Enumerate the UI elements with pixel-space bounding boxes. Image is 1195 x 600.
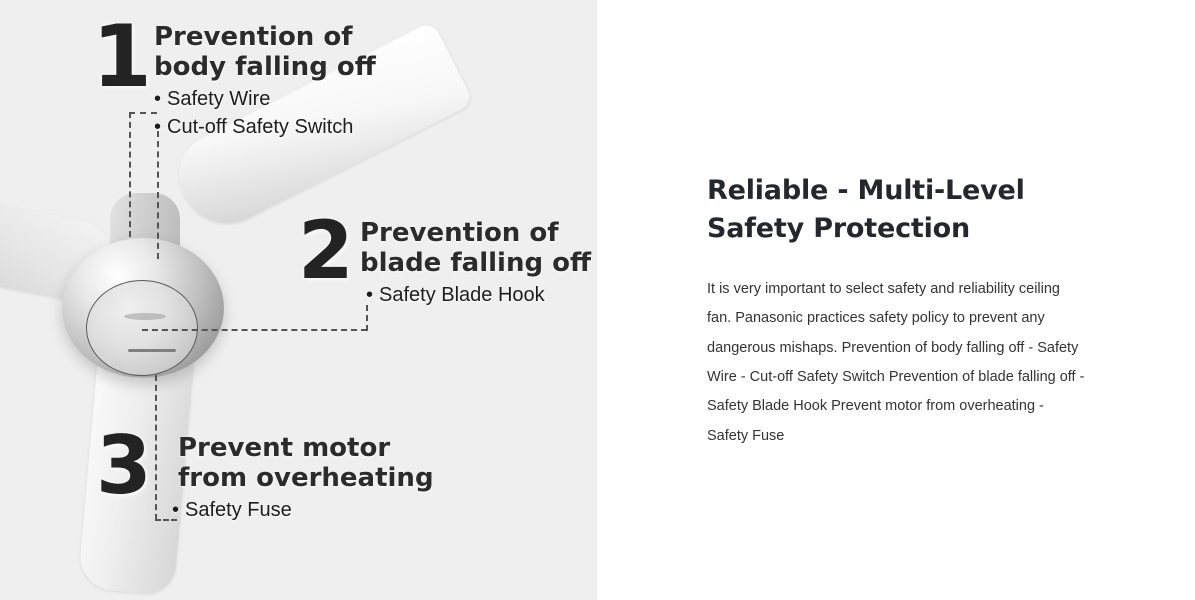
product-feature-section: 1 Prevention of body falling off Safety …	[0, 0, 1195, 600]
page-title: Reliable - Multi-Level Safety Protection	[707, 172, 1079, 249]
fan-hub-vent-slot	[128, 349, 176, 352]
feature-text-panel: Reliable - Multi-Level Safety Protection…	[597, 0, 1195, 600]
feature-description: It is very important to select safety an…	[707, 275, 1085, 452]
callout-1-bullet-item: Safety Wire	[154, 85, 376, 113]
callout-1-headline: Prevention of body falling off	[154, 22, 376, 83]
fan-hub-ridge	[124, 313, 166, 320]
callout-2: 2 Prevention of blade falling off Safety…	[298, 218, 591, 309]
callout-3-number: 3	[96, 433, 150, 499]
ceiling-fan-illustration: 1 Prevention of body falling off Safety …	[0, 0, 597, 600]
callout-2-bullet-item: Safety Blade Hook	[366, 281, 591, 309]
callout-2-bullets: Safety Blade Hook	[366, 281, 591, 309]
callout-1-number: 1	[92, 22, 150, 93]
callout-1-bullets: Safety Wire Cut-off Safety Switch	[154, 85, 376, 142]
fan-safety-figure: 1 Prevention of body falling off Safety …	[0, 0, 597, 600]
callout-1: 1 Prevention of body falling off Safety …	[92, 22, 376, 142]
callout-3-bullet-item: Safety Fuse	[172, 496, 434, 524]
callout-1-bullet-item: Cut-off Safety Switch	[154, 113, 376, 141]
fan-hub-bottom-cap	[86, 280, 198, 376]
callout-3-headline: Prevent motor from overheating	[178, 433, 434, 494]
callout-2-headline: Prevention of blade falling off	[360, 218, 591, 279]
callout-2-number: 2	[298, 218, 352, 284]
callout-3: 3 Prevent motor from overheating Safety …	[96, 433, 434, 524]
callout-3-bullets: Safety Fuse	[172, 496, 434, 524]
